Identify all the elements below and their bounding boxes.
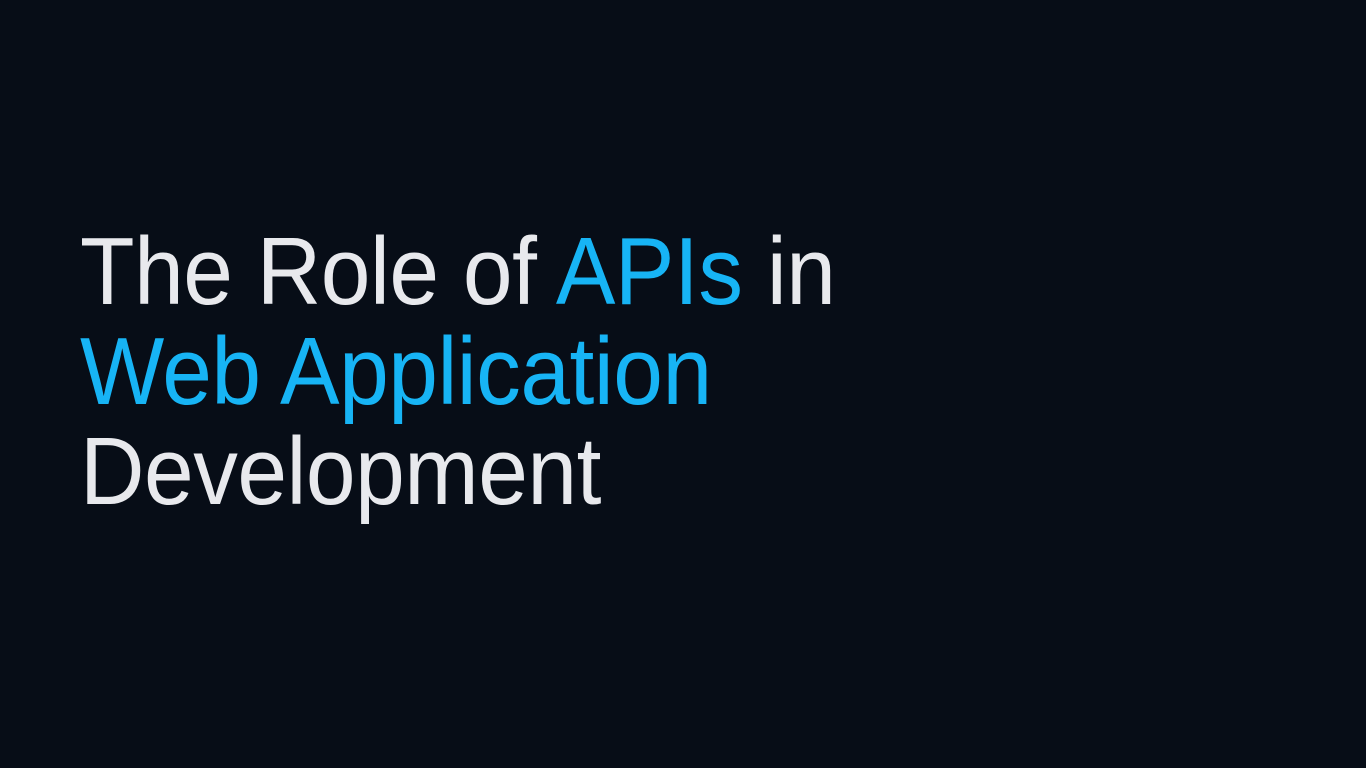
title-segment-in: in — [743, 218, 836, 325]
title-line-3: Development — [80, 422, 1010, 522]
title-segment-development: Development — [80, 418, 601, 525]
page-title: The Role of APIs in Web Application Deve… — [80, 222, 1080, 522]
title-line-2: Web Application — [80, 322, 1010, 422]
title-segment-the-role-of: The Role of — [80, 218, 556, 325]
title-segment-apis: APIs — [556, 218, 743, 325]
title-segment-web-application: Web Application — [80, 318, 712, 425]
slide-canvas: The Role of APIs in Web Application Deve… — [0, 0, 1366, 768]
title-line-1: The Role of APIs in — [80, 222, 1010, 322]
